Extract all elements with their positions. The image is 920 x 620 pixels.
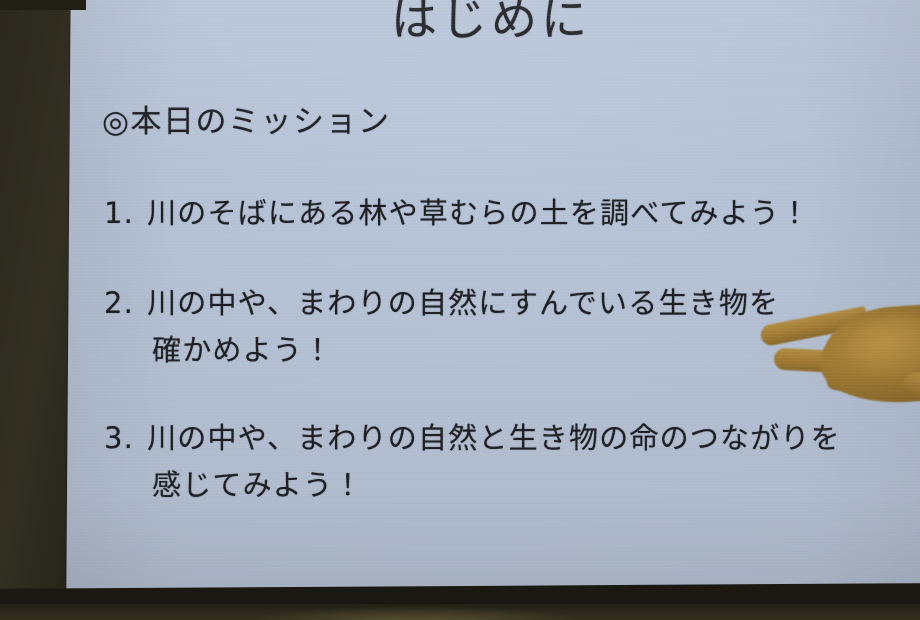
- mission-item-1: 1.川のそばにある林や草むらの土を調べてみよう！: [104, 190, 810, 237]
- wall-top-edge: [0, 0, 86, 10]
- mission-item-2-text: 川の中や、まわりの自然にすんでいる生き物を: [147, 286, 779, 320]
- mission-item-2: 2.川の中や、まわりの自然にすんでいる生き物を 確かめよう！: [104, 280, 779, 374]
- mission-item-1-number: 1.: [104, 196, 134, 230]
- mission-item-2-number: 2.: [104, 286, 134, 320]
- slide-heading-mission: ◎本日のミッション: [102, 96, 391, 141]
- mission-item-3: 3.川の中や、まわりの自然と生き物の命のつながりを 感じてみよう！: [104, 415, 841, 509]
- projected-slide-photo: はじめに ◎本日のミッション 1.川のそばにある林や草むらの土を調べてみよう！ …: [0, 0, 920, 620]
- mission-item-3-number: 3.: [104, 421, 134, 455]
- floor-glow: [250, 606, 580, 620]
- pointing-hand: [752, 286, 920, 436]
- mission-item-2-text-cont: 確かめよう！: [152, 327, 779, 374]
- mission-item-3-text: 川の中や、まわりの自然と生き物の命のつながりを: [147, 421, 841, 455]
- projection-screen: はじめに ◎本日のミッション 1.川のそばにある林や草むらの土を調べてみよう！ …: [62, 0, 920, 592]
- wall-left-edge: [0, 0, 70, 620]
- slide-title: はじめに: [62, 0, 920, 49]
- mission-item-1-text: 川のそばにある林や草むらの土を調べてみよう！: [147, 196, 810, 230]
- mission-item-3-text-cont: 感じてみよう！: [152, 462, 841, 509]
